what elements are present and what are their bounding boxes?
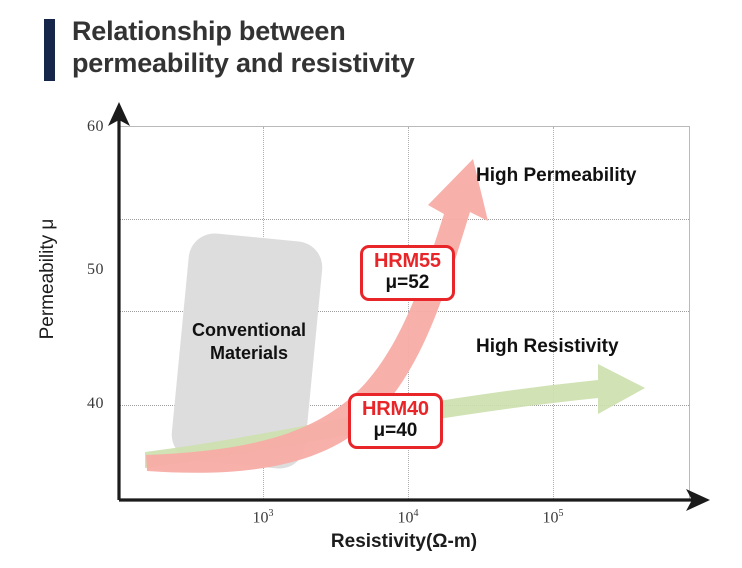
x-tick-1e3-exponent: 3	[269, 508, 274, 519]
callout-hrm55-value: μ=52	[374, 273, 441, 294]
callout-hrm55: HRM55 μ=52	[360, 245, 455, 301]
y-tick-labels: 60 50 40	[58, 0, 104, 568]
callout-hrm40-value: μ=40	[362, 421, 429, 442]
y-tick-40: 40	[87, 395, 104, 413]
x-tick-1e4: 104	[398, 508, 419, 527]
callout-hrm55-name: HRM55	[374, 251, 441, 273]
region-label-conventional-materials: Conventional Materials	[173, 319, 325, 364]
y-tick-50: 50	[87, 261, 104, 279]
gridline-horizontal-1	[119, 219, 689, 220]
x-tick-1e3: 103	[253, 508, 274, 527]
chart-figure: 60 50 40 103 104 105 Permeability μ Resi…	[0, 0, 742, 568]
x-tick-1e4-mantissa: 10	[398, 509, 414, 526]
gridline-horizontal-2	[119, 311, 689, 312]
callout-hrm40-name: HRM40	[362, 399, 429, 421]
annotation-high-resistivity: High Resistivity	[476, 336, 619, 358]
chart-page: Relationship between permeability and re…	[0, 0, 742, 568]
x-tick-1e5: 105	[543, 508, 564, 527]
callout-hrm40: HRM40 μ=40	[348, 393, 443, 449]
x-axis-label: Resistivity(Ω-m)	[118, 531, 690, 553]
y-tick-60: 60	[87, 118, 104, 136]
x-tick-1e5-mantissa: 10	[543, 509, 559, 526]
y-axis-label: Permeability μ	[37, 169, 59, 389]
gridline-vertical-1e3	[263, 127, 264, 499]
x-tick-1e5-exponent: 5	[559, 508, 564, 519]
annotation-high-permeability: High Permeability	[476, 165, 637, 187]
x-tick-1e3-mantissa: 10	[253, 509, 269, 526]
x-tick-1e4-exponent: 4	[414, 508, 419, 519]
